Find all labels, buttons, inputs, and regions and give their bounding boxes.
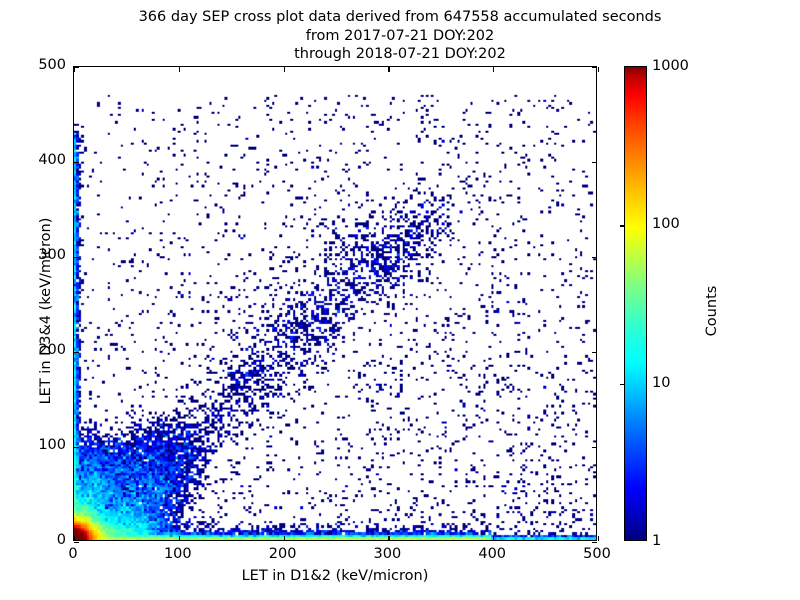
plot-axes — [73, 66, 597, 541]
x-tick-label: 500 — [583, 546, 611, 562]
y-axis-label: LET in D3&4 (keV/micron) — [38, 201, 54, 421]
x-tick — [179, 536, 180, 541]
y-tick — [74, 447, 79, 448]
colorbar-tick-label: 10 — [652, 375, 670, 391]
x-tick — [598, 536, 599, 541]
colorbar-tick-label: 1000 — [652, 58, 689, 74]
scatter-heatmap-canvas — [74, 67, 596, 540]
x-tick-top — [598, 67, 599, 72]
y-tick-right — [592, 352, 597, 353]
x-tick-label: 200 — [269, 546, 297, 562]
colorbar-tick — [620, 225, 625, 226]
colorbar-tick-label: 100 — [652, 216, 680, 232]
x-tick — [284, 536, 285, 541]
x-axis-label: LET in D1&2 (keV/micron) — [73, 568, 597, 584]
y-tick — [74, 67, 79, 68]
y-tick-right — [592, 67, 597, 68]
title-line-1: 366 day SEP cross plot data derived from… — [0, 8, 800, 27]
x-tick — [493, 536, 494, 541]
y-tick-right — [592, 257, 597, 258]
colorbar — [624, 66, 647, 541]
y-tick — [74, 352, 79, 353]
colorbar-tick — [620, 384, 625, 385]
x-tick-top — [493, 67, 494, 72]
x-tick — [388, 536, 389, 541]
x-tick-label: 400 — [478, 546, 506, 562]
y-tick — [74, 542, 79, 543]
figure-title: 366 day SEP cross plot data derived from… — [0, 8, 800, 64]
y-tick — [74, 162, 79, 163]
title-line-2: from 2017-07-21 DOY:202 — [0, 27, 800, 46]
y-tick-right — [592, 542, 597, 543]
x-tick — [74, 536, 75, 541]
x-tick-top — [179, 67, 180, 72]
x-tick-label: 0 — [68, 546, 77, 562]
y-tick — [74, 257, 79, 258]
figure-canvas: 366 day SEP cross plot data derived from… — [0, 0, 800, 600]
x-tick-top — [284, 67, 285, 72]
x-tick-label: 100 — [164, 546, 192, 562]
colorbar-tick-label: 1 — [652, 533, 661, 549]
y-tick-right — [592, 447, 597, 448]
colorbar-label: Counts — [704, 231, 720, 391]
x-tick-top — [388, 67, 389, 72]
y-tick-right — [592, 162, 597, 163]
x-tick-label: 300 — [374, 546, 402, 562]
